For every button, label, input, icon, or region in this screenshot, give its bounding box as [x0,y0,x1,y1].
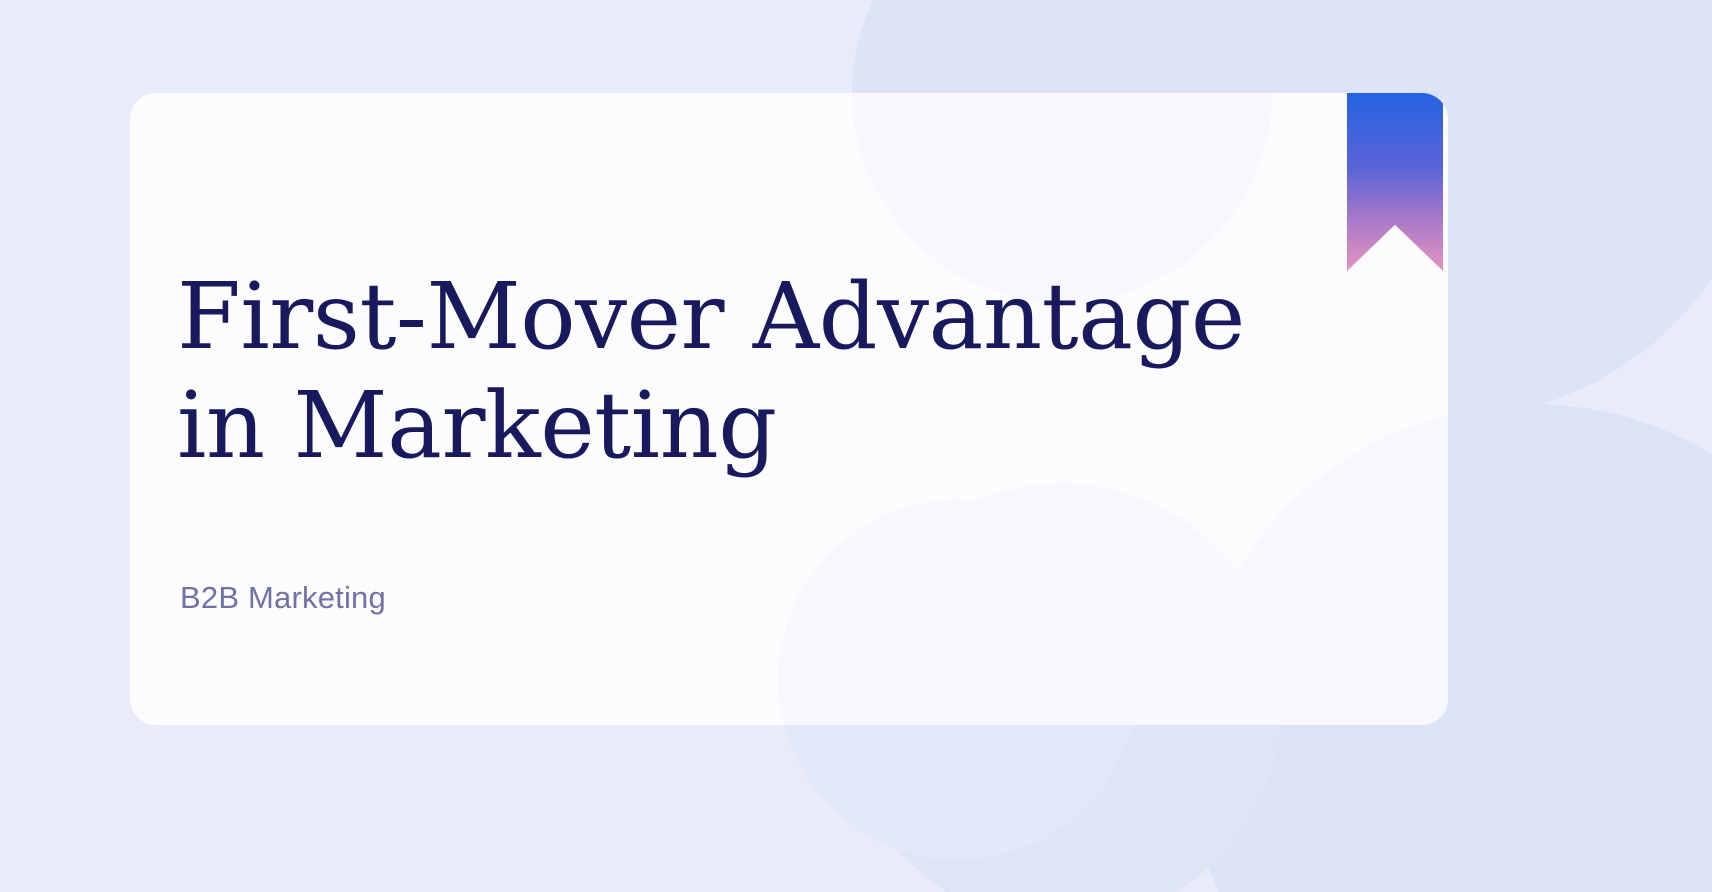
title-slide: First-Mover Advantage in Marketing B2B M… [0,0,1712,892]
slide-content: First-Mover Advantage in Marketing B2B M… [177,93,1357,725]
page-title: First-Mover Advantage in Marketing [177,263,1352,480]
bookmark-ribbon-icon [1347,93,1443,271]
slide-card-inner: First-Mover Advantage in Marketing B2B M… [130,93,1448,725]
slide-card: First-Mover Advantage in Marketing B2B M… [130,93,1448,725]
slide-subtitle: B2B Marketing [180,580,386,616]
